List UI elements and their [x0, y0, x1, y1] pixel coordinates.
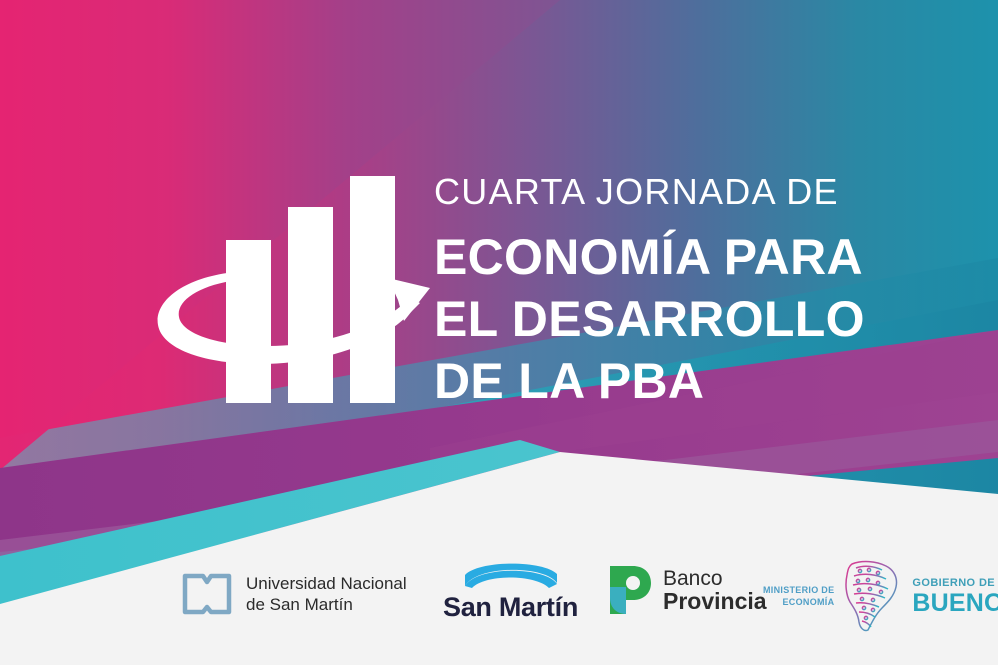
sponsor-logo-row: Universidad Nacional de San Martín San M… [0, 540, 998, 665]
arc-swoosh-icon [463, 562, 559, 588]
ministry-line-2: ECONOMÍA [783, 597, 835, 607]
title-line-3: DE LA PBA [434, 350, 904, 412]
event-poster: CUARTA JORNADA DE ECONOMÍA PARA EL DESAR… [0, 0, 998, 665]
unsam-line-1: Universidad Nacional [246, 574, 407, 593]
ministry-line-1: MINISTERIO DE [763, 585, 834, 595]
sponsor-logo-gobierno-pba[interactable]: MINISTERIO DE ECONOMÍA [763, 558, 998, 634]
title-line-1: ECONOMÍA PARA [434, 226, 904, 288]
bar-chart-growth-arrow-icon [152, 172, 430, 408]
title-kicker: CUARTA JORNADA DE [434, 168, 904, 216]
ministry-label: MINISTERIO DE ECONOMÍA [763, 584, 834, 608]
open-book-icon [182, 572, 232, 616]
government-label: GOBIERNO DE LA PROVI BUENOS AI [912, 576, 998, 617]
banco-line-2: Provincia [663, 590, 767, 612]
sponsor-label-unsam: Universidad Nacional de San Martín [246, 573, 407, 615]
title-line-2: EL DESARROLLO [434, 288, 904, 350]
banco-line-1: Banco [663, 568, 767, 590]
sponsor-logo-unsam[interactable]: Universidad Nacional de San Martín [182, 572, 407, 616]
page-title: ECONOMÍA PARA EL DESARROLLO DE LA PBA [434, 226, 904, 412]
sponsor-footer: Universidad Nacional de San Martín San M… [0, 540, 998, 665]
buenos-aires-province-map-icon [842, 558, 904, 634]
gov-line-2: BUENOS AI [912, 590, 998, 617]
sponsor-label-san-martin: San Martín [443, 592, 578, 622]
sponsor-label-banco-provincia: Banco Provincia [663, 568, 767, 612]
hero-section: CUARTA JORNADA DE ECONOMÍA PARA EL DESAR… [0, 0, 998, 540]
title-block: CUARTA JORNADA DE ECONOMÍA PARA EL DESAR… [434, 168, 904, 412]
gov-line-1: GOBIERNO DE LA PROVI [912, 576, 998, 590]
letter-p-droplet-icon [606, 565, 652, 615]
sponsor-logo-san-martin[interactable]: San Martín [443, 562, 578, 622]
unsam-line-2: de San Martín [246, 595, 353, 614]
sponsor-logo-banco-provincia[interactable]: Banco Provincia [606, 565, 767, 615]
